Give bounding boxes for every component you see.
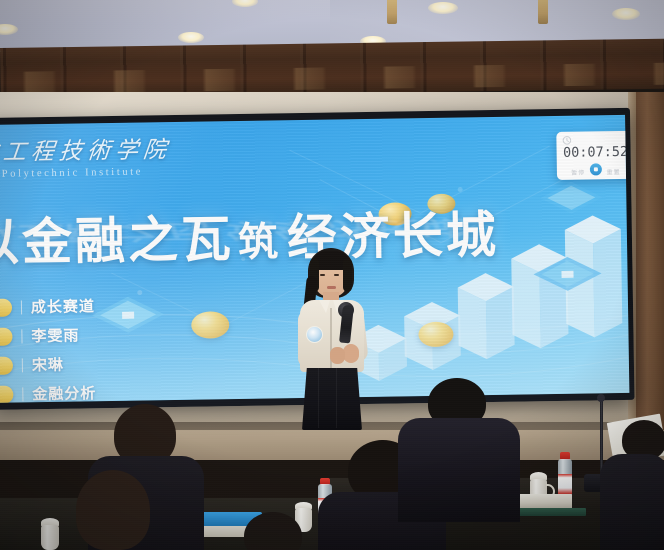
info-divider <box>22 358 23 372</box>
timer-reset-label[interactable]: 重置 <box>607 170 621 176</box>
info-value: 李雯雨 <box>31 325 79 347</box>
water-bottle <box>556 452 574 500</box>
info-pill: 赛道 <box>0 298 12 317</box>
audience-member <box>238 512 308 550</box>
audience-member <box>50 470 176 550</box>
timer-sublabels: 暂停 重置 <box>557 167 630 177</box>
downlight <box>612 8 640 20</box>
audience-member <box>398 378 520 518</box>
presenter-mouth <box>327 286 336 289</box>
presenter-hand-right <box>343 344 359 363</box>
presenter-skirt-fold <box>318 368 319 428</box>
presenter-hand-left <box>330 347 345 364</box>
audience-head <box>76 470 150 550</box>
timer-pause-label[interactable]: 暂停 <box>571 171 585 177</box>
microphone-capsule <box>597 394 605 402</box>
timer-value: 00:07:52 <box>556 144 629 161</box>
presenter-skirt <box>302 368 362 430</box>
downlight <box>178 32 204 43</box>
institution-name-chinese: 北工程技術学院 <box>0 129 207 167</box>
audience-torso <box>398 418 520 522</box>
bottle-label <box>558 474 572 494</box>
presenter-skirt-fold <box>336 368 337 428</box>
info-row: 赛道 成长赛道 <box>0 292 178 320</box>
pendant-light <box>387 0 397 24</box>
audience-member <box>600 420 664 550</box>
info-divider <box>21 300 22 314</box>
info-divider <box>21 329 22 343</box>
clock-icon <box>562 136 571 145</box>
countdown-timer-card[interactable]: 00:07:52 暂停 重置 <box>556 131 629 180</box>
info-row: 专业 金融分析 <box>0 379 180 403</box>
pendant-light <box>538 0 548 24</box>
audience-head <box>244 512 302 550</box>
presenter-eye-left <box>320 274 325 276</box>
wood-wall-panel <box>636 92 664 442</box>
info-row: 教师 宋琳 <box>0 350 179 378</box>
wood-valance <box>0 39 664 98</box>
presenter-badge <box>306 326 323 343</box>
info-value: 宋琳 <box>32 354 64 376</box>
info-pill: 学生 <box>0 327 13 346</box>
institution-logo: 北工程技術学院 bei Polytechnic Institute <box>0 130 206 181</box>
audience-torso <box>600 454 664 550</box>
info-row: 学生 李雯雨 <box>0 321 179 349</box>
presenter-hair-side-right <box>343 258 352 292</box>
info-divider <box>22 387 23 401</box>
info-value: 成长赛道 <box>31 295 95 317</box>
downlight <box>428 2 458 14</box>
presentation-info-list: 赛道 成长赛道 学生 李雯雨 教师 宋琳 专业 金融分析 <box>0 292 180 403</box>
info-pill: 教师 <box>0 356 13 375</box>
presenter-collar-left <box>319 300 330 313</box>
presenter <box>286 248 378 430</box>
conference-presentation-photo: 北工程技術学院 bei Polytechnic Institute 以金融之瓦筑… <box>0 0 664 550</box>
info-value: 金融分析 <box>32 382 96 403</box>
presenter-eye-right <box>334 274 339 276</box>
info-pill: 专业 <box>0 385 13 403</box>
